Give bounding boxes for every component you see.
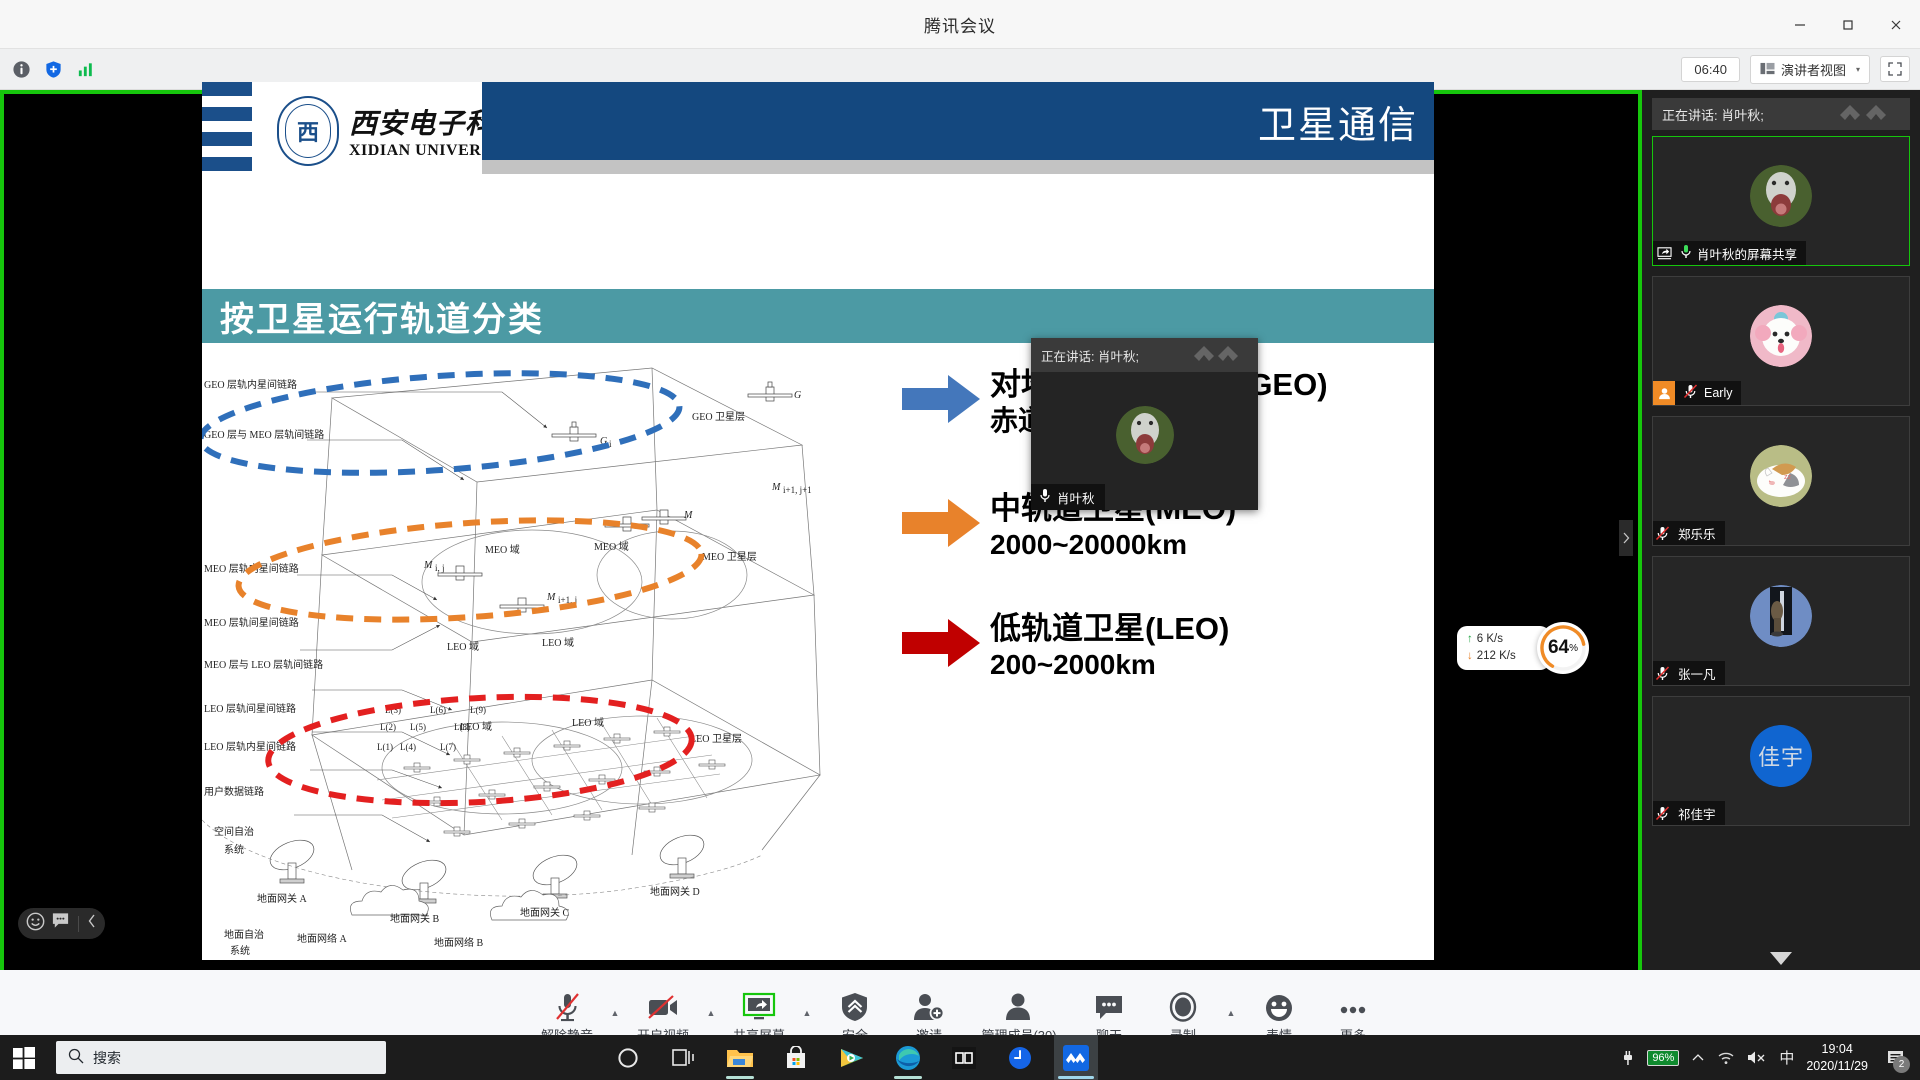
- svg-text:i, j: i, j: [435, 563, 445, 573]
- participant-namebar: 祁佳宇: [1653, 801, 1725, 825]
- app-watermark-icon: [1838, 101, 1900, 130]
- university-seal-icon: 西: [277, 96, 339, 166]
- signal-bars-icon[interactable]: [72, 56, 98, 82]
- search-icon: [68, 1048, 84, 1067]
- mic-muted-icon: [1683, 384, 1699, 402]
- diagram-label: 地面网络 B: [434, 936, 483, 949]
- search-input[interactable]: 搜索: [56, 1041, 386, 1074]
- slide-header-banner: 卫星通信: [482, 82, 1434, 160]
- avatar: [1750, 585, 1812, 647]
- share-screen-icon: [742, 988, 776, 1022]
- wifi-icon[interactable]: [1717, 1050, 1735, 1065]
- avatar: [1116, 406, 1174, 464]
- sub-toolbar-right: 06:40 演讲者视图 ▾: [1681, 55, 1920, 84]
- svg-text:zz: zz: [1784, 474, 1792, 481]
- avatar-initials: 佳宇: [1750, 725, 1812, 787]
- diagram-gateway-label: 地面网关 C: [520, 906, 569, 919]
- svg-text:M: M: [546, 592, 556, 603]
- meo-highlight-ellipse: [235, 507, 704, 633]
- chevron-down-icon: [1768, 950, 1794, 966]
- participant-name: 张一凡: [1678, 664, 1716, 683]
- diagram-label: LEO 域: [447, 640, 479, 653]
- chevron-right-icon: [1622, 532, 1630, 544]
- svg-text:G: G: [794, 390, 801, 401]
- power-plug-icon[interactable]: [1619, 1050, 1635, 1066]
- task-view-icon[interactable]: [662, 1035, 706, 1080]
- fullscreen-icon[interactable]: [1880, 56, 1910, 82]
- bullet-title: 低轨道卫星(LEO): [990, 611, 1229, 647]
- notification-count: 2: [1893, 1056, 1910, 1073]
- taskbar-apps: [606, 1035, 1098, 1080]
- app-dark-icon[interactable]: [942, 1035, 986, 1080]
- svg-text:M: M: [771, 482, 781, 493]
- rail-active-speaker-header: 正在讲话: 肖叶秋;: [1652, 98, 1910, 130]
- clock-date: 2020/11/29: [1806, 1059, 1868, 1073]
- upload-speed: 6 K/s: [1477, 631, 1503, 648]
- close-icon[interactable]: [1872, 0, 1920, 49]
- participant-namebar: 张一凡: [1653, 661, 1725, 685]
- diagram-node-label: L(4): [400, 742, 416, 752]
- floating-speaker-header-label: 正在讲话: 肖叶秋;: [1041, 346, 1139, 365]
- bullet-leo: 低轨道卫星(LEO) 200~2000km: [902, 611, 1422, 683]
- share-border-left: [0, 94, 4, 974]
- diagram-label: LEO 域: [542, 636, 574, 649]
- emoji-icon: [1265, 988, 1293, 1022]
- media-player-icon[interactable]: [830, 1035, 874, 1080]
- diagram-gateway-label: 地面网关 A: [257, 892, 307, 905]
- floating-mini-toolbar: [18, 908, 105, 939]
- header-gray-bar: [482, 160, 1434, 174]
- diagram-node-label: L(1): [377, 742, 393, 752]
- diagram-gateway-label: 地面网关 B: [390, 912, 439, 925]
- mic-muted-icon: [1653, 806, 1673, 821]
- chat-icon: [1095, 988, 1123, 1022]
- mic-muted-icon: [554, 988, 581, 1022]
- caret-up-icon: ▲: [707, 1008, 716, 1018]
- record-icon: [1168, 988, 1198, 1022]
- chevron-down-icon: ▾: [1856, 65, 1860, 74]
- diagram-label: 用户数据链路: [204, 785, 264, 798]
- search-placeholder: 搜索: [93, 1048, 121, 1068]
- taskbar-clock[interactable]: 19:04 2020/11/29: [1806, 1041, 1868, 1075]
- cpu-usage-gauge: 64 %: [1537, 622, 1589, 674]
- window-controls: [1776, 0, 1920, 49]
- shield-plus-icon[interactable]: [40, 56, 66, 82]
- video-off-icon: [647, 988, 679, 1022]
- shield-icon: [842, 988, 868, 1022]
- diagram-label: GEO 层轨内星间链路: [204, 378, 297, 391]
- satellite-glyph: [552, 422, 596, 441]
- participant-tile[interactable]: 张一凡: [1652, 556, 1910, 686]
- screen-share-icon: [1653, 241, 1675, 265]
- upload-speed-row: ↑ 6 K/s: [1467, 631, 1516, 648]
- chevron-left-icon[interactable]: [87, 914, 97, 933]
- arrow-right-icon: [902, 373, 980, 425]
- file-explorer-icon[interactable]: [718, 1035, 762, 1080]
- diagram-label: MEO 层与 LEO 层轨间链路: [204, 658, 323, 671]
- rail-scroll-down-button[interactable]: [1642, 950, 1920, 966]
- avatar: [1750, 305, 1812, 367]
- diagram-node-label: L(9): [470, 705, 486, 715]
- diagram-label: GEO 卫星层: [692, 411, 745, 423]
- diagram-label: MEO 层轨间星间链路: [204, 616, 299, 629]
- floating-speaker-body: 肖叶秋: [1031, 372, 1258, 510]
- participant-name: Early: [1704, 386, 1732, 400]
- participant-tile[interactable]: 肖叶秋的屏幕共享: [1652, 136, 1910, 266]
- tencent-meeting-window: 腾讯会议 06:40: [0, 0, 1920, 1080]
- floating-speaker-header: 正在讲话: 肖叶秋;: [1031, 338, 1258, 372]
- caret-up-icon: ▲: [803, 1008, 812, 1018]
- divider: [78, 916, 79, 932]
- participant-tile[interactable]: 佳宇 祁佳宇: [1652, 696, 1910, 826]
- invite-icon: [914, 988, 944, 1022]
- participant-namebar: 肖叶秋的屏幕共享: [1653, 241, 1806, 265]
- view-mode-label: 演讲者视图: [1781, 60, 1846, 79]
- mic-on-icon: [1680, 244, 1692, 262]
- clock-app-icon[interactable]: [998, 1035, 1042, 1080]
- minimize-icon[interactable]: [1776, 0, 1824, 49]
- rail-active-speaker-label: 正在讲话: 肖叶秋;: [1662, 105, 1764, 124]
- microsoft-edge-icon[interactable]: [886, 1035, 930, 1080]
- tencent-meeting-icon[interactable]: [1054, 1035, 1098, 1080]
- floating-speaker-name: 肖叶秋: [1057, 488, 1095, 507]
- rail-collapse-button[interactable]: [1619, 520, 1633, 556]
- svg-text:i+1, j+1: i+1, j+1: [783, 485, 812, 495]
- participant-name: 郑乐乐: [1678, 524, 1716, 543]
- header-stripes-decoration: [202, 82, 252, 195]
- slide-header: 西 西安电子科技大学 XIDIAN UNIVERSITY 卫星通信: [202, 82, 1434, 195]
- diagram-label: LEO 卫星层: [690, 733, 742, 745]
- diagram-label: 系统: [230, 944, 250, 957]
- windows-taskbar: 搜索: [0, 1035, 1920, 1080]
- download-speed-row: ↓ 212 K/s: [1467, 648, 1516, 665]
- caret-up-icon: ▲: [611, 1008, 620, 1018]
- sub-toolbar-left-icons: [0, 56, 98, 82]
- arrow-right-icon: [902, 497, 980, 549]
- diagram-label: 地面自治: [224, 928, 264, 941]
- ime-indicator[interactable]: 中: [1779, 1047, 1794, 1068]
- mic-on-icon: [1039, 488, 1051, 506]
- app-watermark-icon: [1192, 342, 1250, 371]
- emoji-icon[interactable]: [26, 912, 45, 936]
- participant-tile[interactable]: zz 郑乐乐: [1652, 416, 1910, 546]
- participant-rail: 正在讲话: 肖叶秋;: [1642, 90, 1920, 970]
- cpu-usage-value: 64: [1548, 637, 1569, 659]
- host-icon: [1653, 381, 1675, 405]
- more-dots-icon: [1338, 988, 1368, 1022]
- diagram-node-label: L(2): [380, 722, 396, 732]
- network-speed-card: ↑ 6 K/s ↓ 212 K/s: [1457, 626, 1550, 671]
- diagram-gateway-label: 地面网关 D: [650, 885, 700, 898]
- diagram-node-label: L(5): [410, 722, 426, 732]
- diagram-label: GEO 层与 MEO 层轨间链路: [204, 428, 324, 441]
- battery-percent: 96%: [1652, 1052, 1674, 1064]
- notification-icon[interactable]: 2: [1880, 1035, 1910, 1080]
- mic-muted-icon: [1653, 666, 1673, 681]
- windows-start-icon[interactable]: [0, 1035, 48, 1080]
- microsoft-store-icon[interactable]: [774, 1035, 818, 1080]
- diagram-label: MEO 卫星层: [702, 551, 757, 563]
- cortana-icon[interactable]: [606, 1035, 650, 1080]
- diagram-node-label: L(8): [454, 722, 470, 732]
- bullet-sub: 2000~20000km: [990, 527, 1236, 563]
- title-bar: 腾讯会议: [0, 0, 1920, 49]
- diagram-label: 系统: [224, 843, 244, 856]
- arrow-up-icon: ↑: [1467, 631, 1473, 648]
- layout-icon: [1760, 62, 1775, 76]
- participant-tile[interactable]: Early: [1652, 276, 1910, 406]
- floating-speaker-namebar: 肖叶秋: [1031, 484, 1105, 510]
- chevron-up-icon[interactable]: [1691, 1051, 1705, 1065]
- window-title: 腾讯会议: [924, 12, 996, 37]
- mic-muted-icon: [1653, 526, 1673, 541]
- caret-up-icon: ▲: [1227, 1008, 1236, 1018]
- arrow-down-icon: ↓: [1467, 648, 1473, 665]
- system-tray: 96% 中 19:04 2020/11/29 2: [1619, 1035, 1920, 1080]
- shared-slide: 西 西安电子科技大学 XIDIAN UNIVERSITY 卫星通信 按卫星运行轨…: [202, 82, 1434, 960]
- satellite-network-diagram: G i G M: [202, 350, 842, 960]
- download-speed: 212 K/s: [1477, 648, 1516, 665]
- diagram-label: MEO 域: [485, 543, 520, 556]
- diagram-label: 空间自治: [214, 825, 254, 838]
- info-icon[interactable]: [8, 56, 34, 82]
- avatar: zz: [1750, 445, 1812, 507]
- svg-text:M: M: [423, 560, 433, 571]
- clock-time: 19:04: [1822, 1042, 1853, 1056]
- diagram-label: MEO 域: [594, 540, 629, 553]
- diagram-label: LEO 域: [572, 716, 604, 729]
- participant-namebar: Early: [1653, 381, 1741, 405]
- battery-indicator[interactable]: 96%: [1647, 1050, 1679, 1066]
- maximize-icon[interactable]: [1824, 0, 1872, 49]
- volume-muted-icon[interactable]: [1747, 1050, 1767, 1065]
- diagram-label: 地面网络 A: [297, 932, 347, 945]
- slide-section-title: 按卫星运行轨道分类: [220, 292, 544, 341]
- svg-text:M: M: [683, 510, 693, 521]
- cpu-usage-unit: %: [1569, 643, 1578, 654]
- members-icon: [1005, 988, 1033, 1022]
- avatar: [1750, 165, 1812, 227]
- participant-name: 祁佳宇: [1678, 804, 1716, 823]
- participant-namebar: 郑乐乐: [1653, 521, 1725, 545]
- network-status-hud: ↑ 6 K/s ↓ 212 K/s 64 %: [1457, 622, 1550, 674]
- slide-section-band: 按卫星运行轨道分类: [202, 289, 1434, 343]
- diagram-label: LEO 层轨间星间链路: [204, 702, 296, 715]
- floating-speaker-window[interactable]: 正在讲话: 肖叶秋; 肖叶秋: [1031, 338, 1258, 510]
- diagram-node-label: L(6): [430, 705, 446, 715]
- meeting-timer: 06:40: [1681, 57, 1740, 82]
- chat-icon[interactable]: [51, 912, 70, 935]
- participant-name: 肖叶秋的屏幕共享: [1697, 244, 1797, 263]
- view-mode-selector[interactable]: 演讲者视图 ▾: [1750, 55, 1870, 84]
- diagram-node-label: L(7): [440, 742, 456, 752]
- geo-highlight-ellipse: [202, 359, 683, 486]
- bullet-sub: 200~2000km: [990, 647, 1229, 683]
- arrow-right-icon: [902, 617, 980, 669]
- slide-header-title: 卫星通信: [1258, 94, 1418, 149]
